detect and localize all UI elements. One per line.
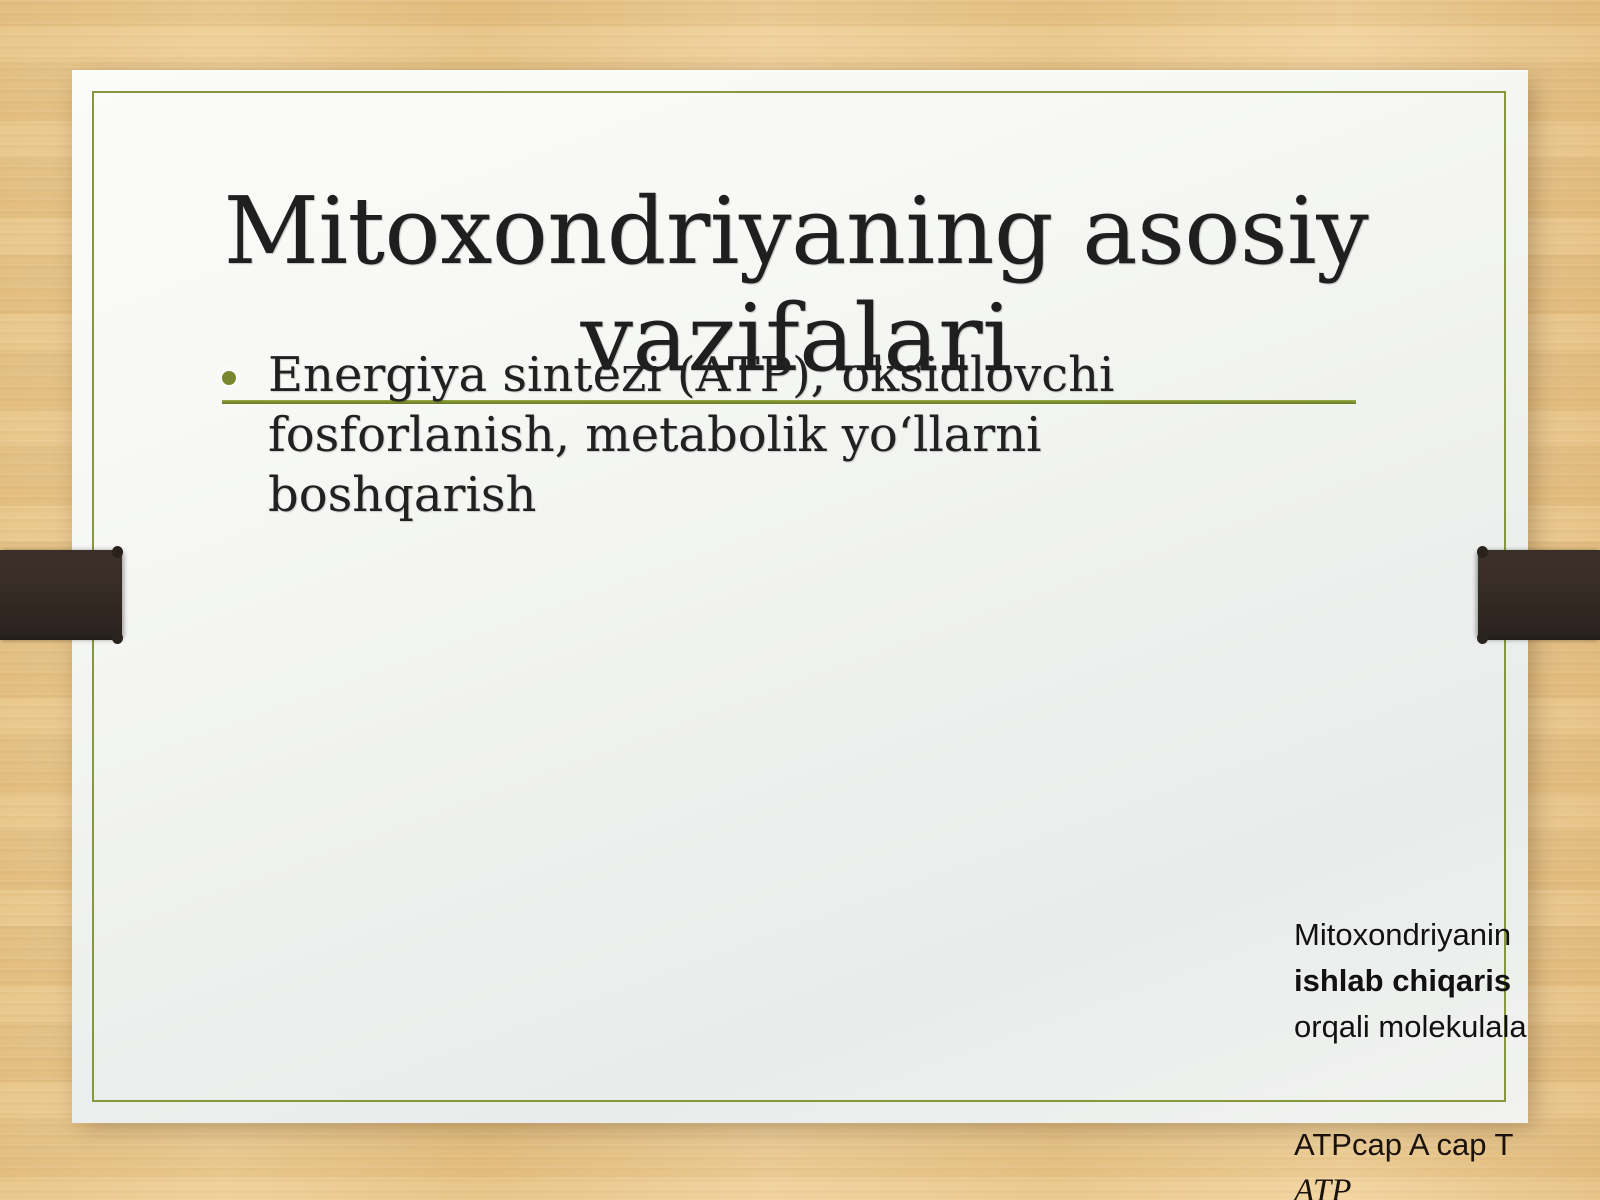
list-item-label: Energiya sintezi (ATP), oksidlovchi fosf… bbox=[268, 347, 1114, 523]
overflow-note-block: Mitoxondriyanin ishlab chiqaris orqali m… bbox=[1294, 912, 1600, 1050]
overflow-note-line-2: ishlab chiqaris bbox=[1294, 958, 1600, 1004]
list-item: Energiya sintezi (ATP), oksidlovchi fosf… bbox=[216, 345, 1246, 525]
overflow-note-line-3: orqali molekulala bbox=[1294, 1004, 1600, 1050]
overflow-note-line-1: Mitoxondriyanin bbox=[1294, 912, 1600, 958]
overflow-tail-line-2: ATP bbox=[1294, 1168, 1600, 1200]
left-ribbon-tab bbox=[0, 550, 122, 640]
slide-body-list: Energiya sintezi (ATP), oksidlovchi fosf… bbox=[216, 345, 1246, 525]
right-ribbon-tab bbox=[1478, 550, 1600, 640]
bullet-dot-icon bbox=[222, 371, 236, 385]
overflow-tail-block: ATPcap A cap T ATP bbox=[1294, 1122, 1600, 1200]
overflow-tail-line-1: ATPcap A cap T bbox=[1294, 1122, 1600, 1168]
